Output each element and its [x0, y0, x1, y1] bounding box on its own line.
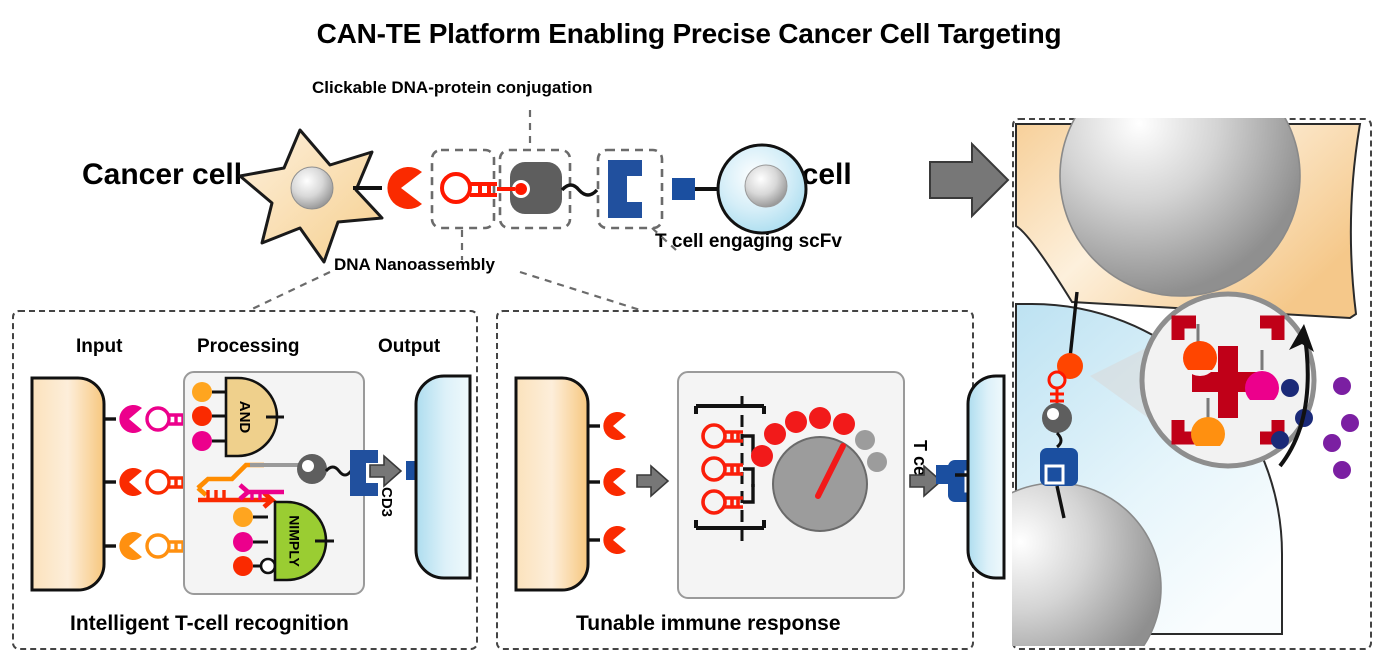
cancer-cell-star-icon	[240, 130, 382, 262]
top-row-diagram	[0, 110, 1000, 280]
page-title: CAN-TE Platform Enabling Precise Cancer …	[0, 18, 1378, 50]
left-t-cell-body	[416, 376, 470, 578]
cancer-receptor-icon	[387, 167, 422, 209]
dna-hairpin-icon	[442, 174, 497, 202]
inverter-bubble-icon	[261, 559, 275, 573]
right-panel-diagram	[1012, 118, 1368, 646]
granules-purple	[1323, 377, 1359, 479]
flow-arrow-right-icon	[930, 144, 1008, 216]
protein-icon	[497, 162, 562, 214]
scfv-icon	[608, 160, 642, 218]
mid-receptors	[588, 412, 626, 554]
conjugation-label: Clickable DNA-protein conjugation	[312, 78, 593, 98]
mid-t-cell-body	[968, 376, 1004, 578]
mid-input-arrow-icon	[637, 466, 668, 496]
left-panel-diagram: AND NIMPLY	[12, 310, 474, 646]
t-cell-circle-icon	[718, 145, 806, 233]
cd3-square-icon	[672, 178, 695, 200]
mid-cancer-cell-body	[516, 378, 588, 590]
svg-text:NIMPLY: NIMPLY	[286, 515, 302, 567]
left-cancer-cell-body	[32, 378, 104, 590]
svg-text:AND: AND	[236, 401, 253, 434]
middle-panel-diagram	[496, 310, 970, 646]
